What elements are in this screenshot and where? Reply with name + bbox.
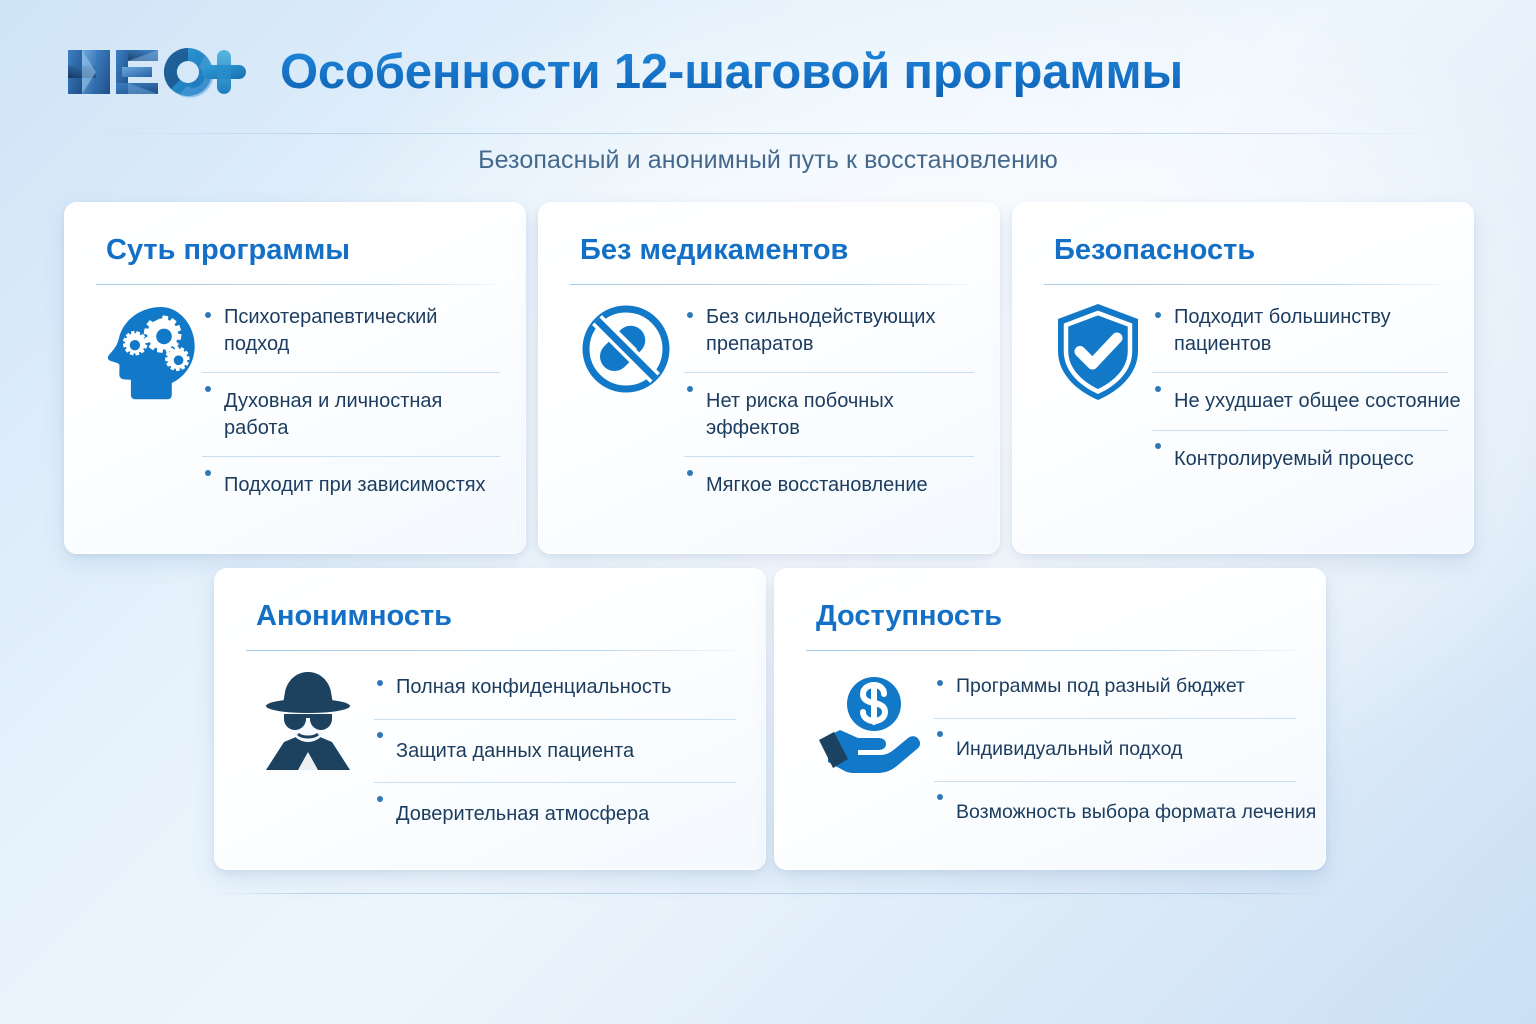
no-pills-icon — [572, 300, 680, 396]
bullet-text: Мягкое восстановление — [706, 472, 974, 499]
bullet-dot — [205, 470, 211, 476]
bullet-text: Подходит при зависимостях — [224, 472, 500, 499]
feature-card-bezopasnost[interactable]: Безопасность Подходит большинству пациен… — [1012, 202, 1474, 554]
bullet-dot — [1155, 386, 1161, 392]
bullet-dot — [1155, 443, 1161, 449]
bullet-dot — [377, 796, 383, 802]
card-bullet-list: Подходит большинству пациентов Не ухудша… — [1150, 300, 1448, 487]
infographic-stage: Особенности 12-шаговой программы Безопас… — [0, 0, 1536, 1024]
bullet-dot — [205, 386, 211, 392]
card-bullet-list: Без сильнодействующих препаратов Нет рис… — [680, 300, 974, 514]
card-title-divider — [570, 284, 968, 285]
bullet-text: Полная конфиденциальность — [396, 674, 736, 701]
feature-card-dostupnost[interactable]: Доступность Программы под раз — [774, 568, 1326, 870]
list-item: Контролируемый процесс — [1152, 431, 1448, 488]
bullet-text: Духовная и личностная работа — [224, 388, 500, 441]
hand-holding-coin-icon — [808, 668, 928, 774]
bullet-dot — [687, 470, 693, 476]
list-item: Мягкое восстановление — [684, 457, 974, 514]
bullet-text: Психотерапевтический подход — [224, 304, 500, 357]
list-item: Полная конфиденциальность — [374, 668, 736, 720]
bullet-text: Подходит большинству пациентов — [1174, 304, 1448, 357]
list-item: Духовная и личностная работа — [202, 373, 500, 457]
list-item: Не ухудшает общее состояние — [1152, 373, 1448, 431]
card-title: Без медикаментов — [580, 236, 848, 265]
bullet-dot — [937, 680, 943, 686]
bullet-dot — [377, 680, 383, 686]
list-item: Подходит большинству пациентов — [1152, 300, 1448, 373]
page-header: Особенности 12-шаговой программы — [0, 0, 1536, 134]
bullet-text: Без сильнодействующих препаратов — [706, 304, 974, 357]
bullet-dot — [687, 312, 693, 318]
header-divider — [96, 133, 1444, 134]
bullet-dot — [377, 732, 383, 738]
list-item: Подходит при зависимостях — [202, 457, 500, 514]
bullet-dot — [205, 312, 211, 318]
heo-plus-logo — [66, 44, 246, 100]
footer-divider — [216, 893, 1326, 894]
card-bullet-list: Полная конфиденциальность Защита данных … — [368, 668, 736, 846]
card-title: Доступность — [816, 602, 1002, 631]
bullet-text: Не ухудшает общее состояние — [1174, 388, 1448, 415]
list-item: Защита данных пациента — [374, 720, 736, 784]
page-subtitle: Безопасный и анонимный путь к восстановл… — [0, 146, 1536, 175]
card-title-divider — [1044, 284, 1442, 285]
feature-card-anonimnost[interactable]: Анонимность — [214, 568, 766, 870]
card-title: Безопасность — [1054, 236, 1255, 265]
bullet-dot — [687, 386, 693, 392]
bullet-text: Контролируемый процесс — [1174, 446, 1448, 473]
bullet-text: Программы под разный бюджет — [956, 674, 1296, 700]
bullet-dot — [1155, 312, 1161, 318]
card-title: Суть программы — [106, 236, 350, 265]
feature-card-sut-programmy[interactable]: Суть программы Психотерапевтический подх… — [64, 202, 526, 554]
incognito-agent-icon — [248, 668, 368, 778]
shield-check-icon — [1046, 300, 1150, 402]
card-bullet-list: Программы под разный бюджет Индивидуальн… — [928, 668, 1296, 844]
list-item: Индивидуальный подход — [934, 719, 1296, 782]
list-item: Нет риска побочных эффектов — [684, 373, 974, 457]
bullet-text: Защита данных пациента — [396, 738, 736, 765]
head-with-gears-icon — [98, 300, 202, 404]
card-title: Анонимность — [256, 602, 452, 631]
list-item: Доверительная атмосфера — [374, 783, 736, 846]
bullet-dot — [937, 794, 943, 800]
bullet-dot — [937, 731, 943, 737]
list-item: Программы под разный бюджет — [934, 668, 1296, 719]
card-title-divider — [96, 284, 494, 285]
card-title-divider — [806, 650, 1294, 651]
list-item: Без сильнодействующих препаратов — [684, 300, 974, 373]
bullet-text: Возможность выбора формата лечения — [956, 800, 1296, 826]
bullet-text: Индивидуальный подход — [956, 737, 1296, 763]
list-item: Возможность выбора формата лечения — [934, 782, 1296, 844]
feature-card-bez-medikamentov[interactable]: Без медикаментов Без сильнодействующих п… — [538, 202, 1000, 554]
list-item: Психотерапевтический подход — [202, 300, 500, 373]
bullet-text: Доверительная атмосфера — [396, 801, 736, 828]
card-title-divider — [246, 650, 734, 651]
page-title: Особенности 12-шаговой программы — [280, 48, 1183, 97]
bullet-text: Нет риска побочных эффектов — [706, 388, 974, 441]
card-bullet-list: Психотерапевтический подход Духовная и л… — [202, 300, 500, 514]
